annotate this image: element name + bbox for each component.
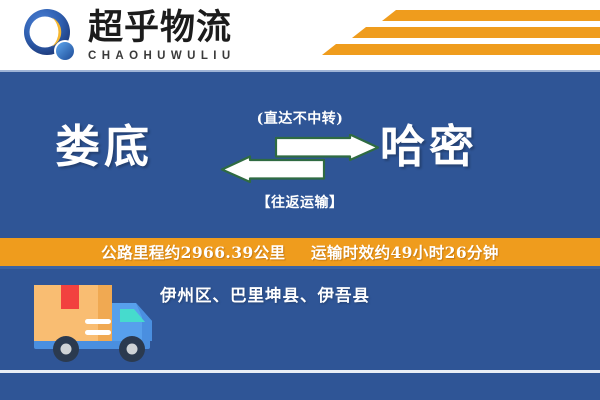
bidirectional-arrow-icon	[218, 134, 382, 186]
service-areas: 伊州区、巴里坤县、伊吾县	[160, 282, 370, 306]
duration-text: 运输时效约49小时26分钟	[311, 243, 499, 262]
logistics-banner: 超乎物流 CHAOHUWULIU 娄底 (直达不中转) 【往返运输】	[0, 0, 600, 400]
info-bar: 公路里程约2966.39公里 运输时效约49小时26分钟	[0, 238, 600, 266]
circle-crescent-logo-icon	[22, 8, 80, 66]
route-section: 娄底 (直达不中转) 【往返运输】 哈密	[0, 72, 600, 236]
delivery-truck-icon	[28, 277, 163, 373]
distance-text: 公路里程约2966.39公里	[101, 243, 285, 262]
stripe-1	[382, 10, 600, 21]
route-middle: (直达不中转) 【往返运输】	[218, 108, 382, 218]
stripe-3	[322, 44, 600, 55]
header: 超乎物流 CHAOHUWULIU	[0, 0, 600, 70]
origin-city: 娄底	[55, 118, 153, 176]
brand-name-cn: 超乎物流	[88, 8, 278, 48]
brand-logo[interactable]: 超乎物流 CHAOHUWULIU	[22, 6, 272, 68]
footer-section: 伊州区、巴里坤县、伊吾县	[0, 269, 600, 400]
decorative-stripes	[310, 8, 600, 62]
info-bar-text: 公路里程约2966.39公里 运输时效约49小时26分钟	[101, 241, 499, 263]
roundtrip-note: 【往返运输】	[218, 192, 382, 212]
destination-city: 哈密	[380, 118, 478, 176]
brand-name-en: CHAOHUWULIU	[88, 49, 278, 63]
footer-divider	[0, 370, 600, 373]
direct-note: (直达不中转)	[218, 108, 382, 128]
stripe-2	[352, 27, 600, 38]
brand-text: 超乎物流 CHAOHUWULIU	[88, 8, 278, 63]
